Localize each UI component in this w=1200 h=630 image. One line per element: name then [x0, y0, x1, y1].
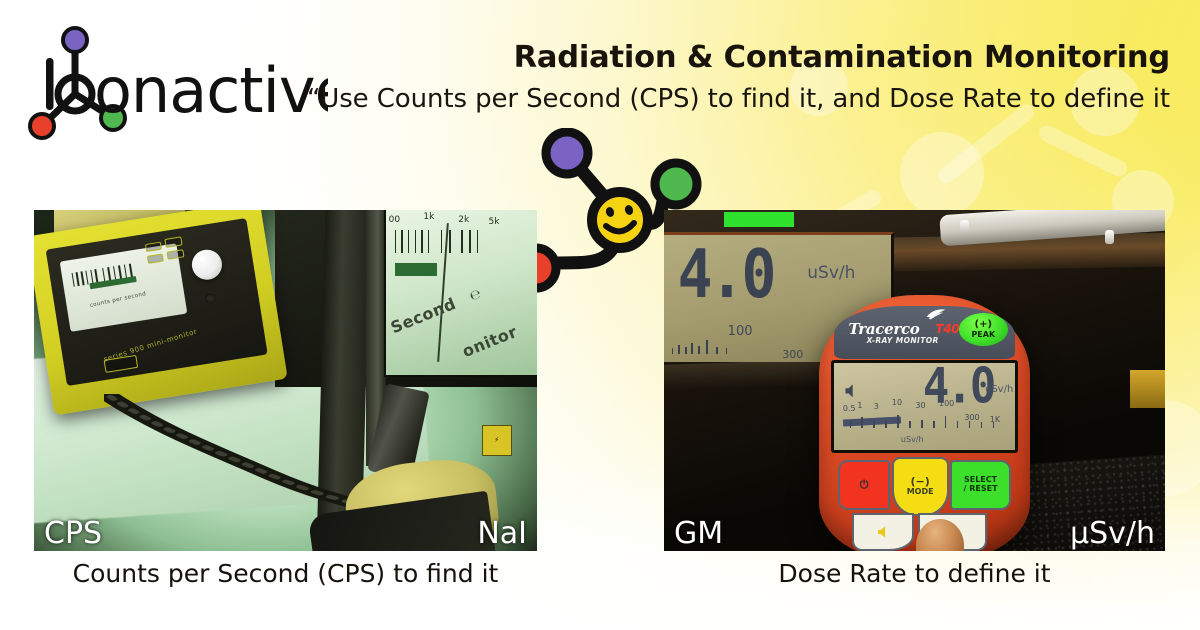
- inset-needle-bar: [395, 263, 437, 276]
- green-label-strip: [724, 212, 794, 227]
- caption-left: Counts per Second (CPS) to find it: [34, 559, 537, 588]
- mode-key[interactable]: (−) MODE: [892, 457, 949, 517]
- speaker-alert-icon: [876, 525, 890, 539]
- logo-node-red: [30, 114, 54, 138]
- reset-label: / RESET: [964, 485, 998, 494]
- yellow-equipment-box: [1130, 370, 1165, 408]
- mascot-face: [592, 192, 648, 248]
- page-title: Radiation & Contamination Monitoring: [300, 40, 1170, 75]
- mode-minus-symbol: (−): [911, 476, 930, 488]
- dose-rate-unit: uSv/h: [985, 384, 1013, 395]
- logo-svg: onactive: [28, 22, 328, 142]
- dose-rate-reading: 4.0: [923, 363, 993, 412]
- inset-bargraph-ticks: [669, 338, 751, 354]
- power-icon: ⏻: [860, 479, 869, 491]
- gm-meter-photo[interactable]: 4.0 uSv/h 100 300 Tracerco T406 X-RAY MO…: [664, 210, 1165, 551]
- device-lcd-screen: 4.0 uSv/h 0.5 1 3 10 30 100 300: [831, 360, 1018, 453]
- mode-label: MODE: [907, 488, 934, 497]
- inset-scale-300: 300: [782, 348, 803, 361]
- device-subtitle: X-RAY MONITOR: [867, 336, 939, 345]
- peak-button[interactable]: (+) PEAK: [959, 313, 1008, 346]
- power-key[interactable]: ⏻: [838, 460, 890, 510]
- peak-plus-symbol: (+): [975, 320, 993, 330]
- dial-zoom-inset: 00 1k 2k 5k Second onitor ℮: [384, 210, 537, 377]
- slide-canvas: onactive Radiation & Contamination Monit…: [0, 0, 1200, 630]
- bargraph-scale: [839, 410, 1009, 427]
- page-subtitle: “Use Counts per Second (CPS) to find it,…: [280, 84, 1170, 114]
- badge-gm: GM: [674, 519, 723, 549]
- sound-key[interactable]: [852, 513, 914, 551]
- dial-unit-label: counts per second: [90, 291, 147, 309]
- inset-word-monitor: onitor: [460, 322, 520, 361]
- tube-clip-1: [960, 220, 969, 234]
- monitor-button-4: [167, 249, 184, 260]
- monitor-faceplate: counts per second series 900 mini-monito…: [45, 218, 267, 385]
- inset-dose-reading: 4.0: [678, 241, 774, 308]
- badge-nai: NaI: [477, 519, 527, 549]
- tracerco-bird-icon: [914, 307, 957, 321]
- inset-dose-unit: uSv/h: [807, 263, 855, 283]
- caption-right: Dose Rate to define it: [664, 559, 1165, 588]
- logo-node-purple: [63, 28, 87, 52]
- inset-scale-100: 100: [728, 324, 753, 339]
- range-knob: [190, 247, 225, 282]
- indicator-led: [205, 293, 217, 304]
- monitor-brand-label: series 900 mini-monitor: [103, 328, 198, 364]
- mascot-node-green: [655, 163, 697, 205]
- mascot-node-purple: [546, 132, 588, 174]
- monitor-button-2: [165, 237, 182, 248]
- hazard-sticker: ⚡: [482, 425, 512, 456]
- tube-clip-2: [1105, 230, 1114, 244]
- badge-usvh: µSv/h: [1070, 519, 1155, 549]
- nai-monitor-photo[interactable]: counts per second series 900 mini-monito…: [34, 210, 537, 551]
- tracerco-t406-device[interactable]: Tracerco T406 X-RAY MONITOR (+) PEAK 4.0…: [819, 295, 1029, 551]
- logo-letter-i: [46, 58, 54, 110]
- badge-cps: CPS: [44, 519, 102, 549]
- inset-manufacturer-logo: ℮: [468, 286, 484, 304]
- bargraph-unit: uSv/h: [901, 435, 924, 444]
- peak-label: PEAK: [971, 330, 995, 340]
- inset-word-second: Second: [388, 294, 459, 337]
- ionactive-logo[interactable]: onactive: [28, 22, 328, 142]
- device-top-panel: Tracerco T406 X-RAY MONITOR (+) PEAK: [834, 306, 1015, 359]
- speaker-icon: [841, 383, 859, 399]
- select-reset-key[interactable]: SELECT / RESET: [950, 460, 1010, 510]
